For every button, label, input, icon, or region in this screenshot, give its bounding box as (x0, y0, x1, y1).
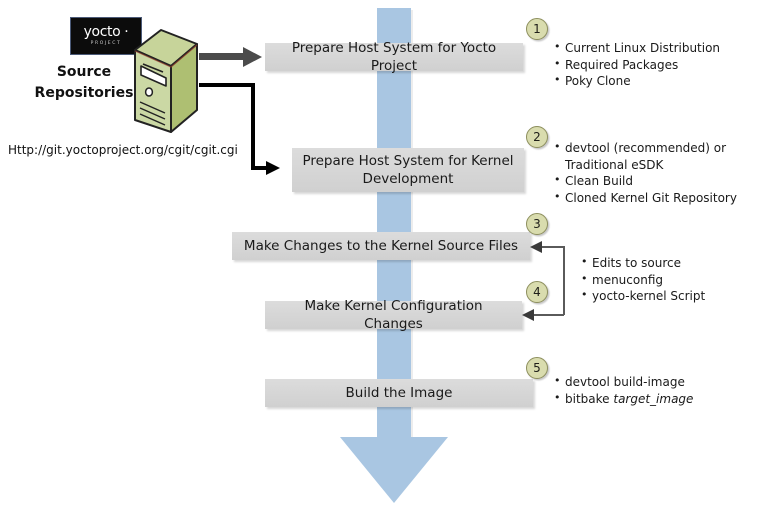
feedback-arrow-head-step4 (522, 309, 534, 321)
notes-step-2: devtool (recommended) or Traditional eSD… (553, 140, 761, 206)
process-box-make-kernel-source-changes[interactable]: Make Changes to the Kernel Source Files (232, 232, 530, 260)
connector-arrow-to-step1-shaft (199, 53, 245, 60)
list-item: Poky Clone (553, 73, 753, 90)
connector-arrow-to-step2-segment-top (199, 83, 255, 87)
yocto-logo-subtitle: PROJECT (91, 40, 122, 47)
connector-arrow-to-step2-head (266, 161, 280, 175)
notes-step-3-and-4: Edits to source menuconfig yocto-kernel … (580, 255, 769, 305)
bitbake-target-image-italic: target_image (613, 392, 693, 406)
source-label-line1: Source (57, 64, 111, 80)
feedback-bracket-vertical (563, 246, 565, 315)
step-badge-5: 5 (526, 357, 548, 379)
bitbake-command-prefix: bitbake (565, 392, 613, 406)
feedback-arrow-head-step3 (530, 241, 542, 253)
process-box-build-the-image[interactable]: Build the Image (265, 379, 533, 407)
step-badge-4: 4 (526, 281, 548, 303)
step-badge-1: 1 (526, 18, 548, 40)
process-box-prepare-host-kernel[interactable]: Prepare Host System for Kernel Developme… (292, 148, 524, 192)
source-label-line2: Repositories (35, 85, 134, 101)
step-badge-2: 2 (526, 126, 548, 148)
connector-arrow-to-step1-head (243, 47, 262, 67)
list-item-bitbake: bitbake target_image (553, 391, 753, 408)
feedback-bracket-to-step4 (532, 314, 564, 316)
list-item: devtool build-image (553, 374, 753, 391)
list-item: Required Packages (553, 57, 753, 74)
list-item: Cloned Kernel Git Repository (553, 190, 761, 207)
list-item: Current Linux Distribution (553, 40, 753, 57)
list-item: Edits to source (580, 255, 769, 272)
list-item: yocto-kernel Script (580, 288, 769, 305)
list-item: Clean Build (553, 173, 761, 190)
server-tower-icon (133, 28, 199, 140)
notes-step-5: devtool build-image bitbake target_image (553, 374, 753, 407)
main-flow-arrow-head (340, 437, 448, 503)
list-item: devtool (recommended) or Traditional eSD… (553, 140, 761, 173)
source-repositories-url: Http://git.yoctoproject.org/cgit/cgit.cg… (8, 143, 238, 157)
list-item: menuconfig (580, 272, 769, 289)
process-box-make-kernel-config-changes[interactable]: Make Kernel Configuration Changes (265, 301, 522, 329)
yocto-logo-wordmark: yocto (84, 25, 129, 39)
connector-arrow-to-step2-segment-vertical (251, 83, 255, 169)
source-repositories-label: Source Repositories (24, 62, 144, 104)
yocto-project-logo: yocto PROJECT (70, 17, 142, 55)
notes-step-1: Current Linux Distribution Required Pack… (553, 40, 753, 90)
step-badge-3: 3 (526, 213, 548, 235)
feedback-bracket-to-step3 (540, 246, 564, 248)
process-box-prepare-host-yocto[interactable]: Prepare Host System for Yocto Project (265, 43, 523, 71)
